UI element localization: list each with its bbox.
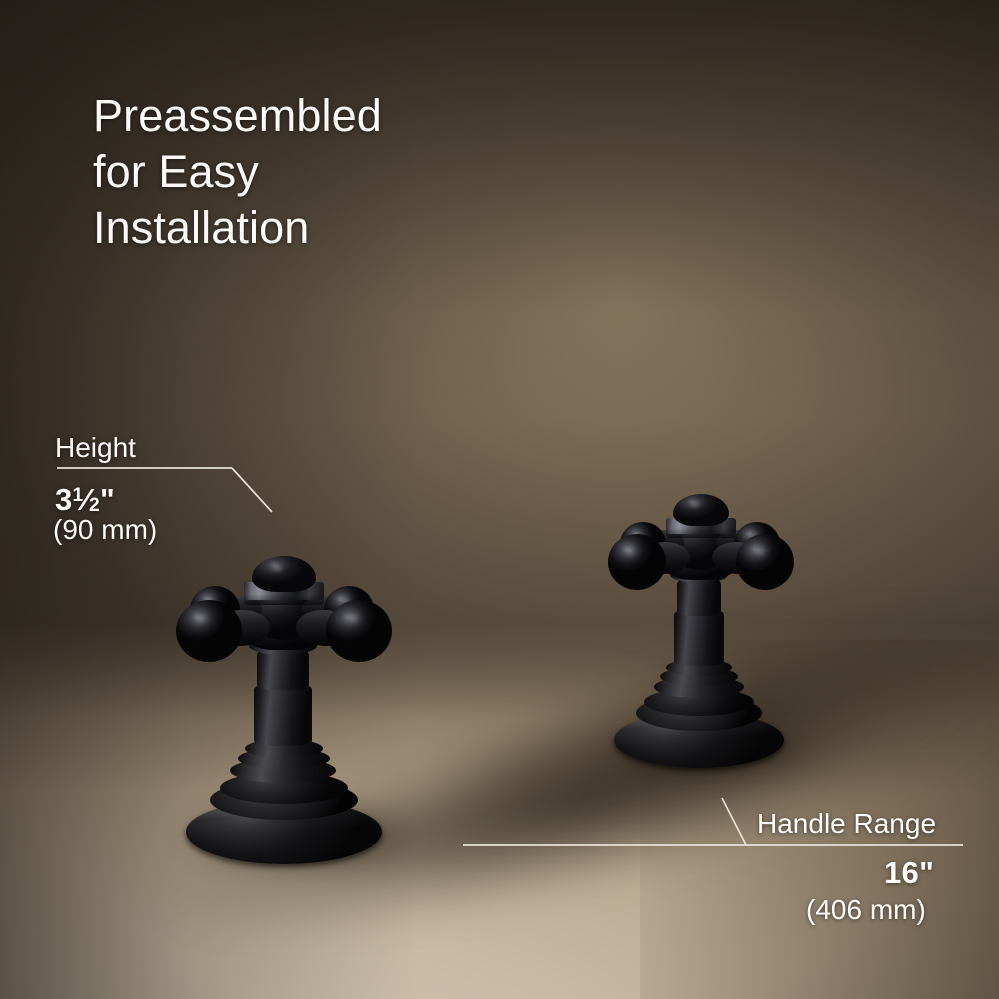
- fraction-numerator: 1: [73, 485, 84, 506]
- height-callout-metric: (90 mm): [53, 513, 157, 547]
- headline-text: Preassembled for Easy Installation: [93, 88, 382, 256]
- product-hero-image: Preassembled for Easy Installation Heigh…: [0, 0, 999, 999]
- height-callout-label: Height: [55, 432, 136, 464]
- height-value-whole: 3: [55, 482, 73, 517]
- handle-range-callout-value: 16": [884, 855, 934, 891]
- height-value-unit: ": [100, 482, 115, 517]
- handle-range-callout-label: Handle Range: [757, 808, 936, 840]
- handle-range-callout-metric: (406 mm): [806, 893, 926, 927]
